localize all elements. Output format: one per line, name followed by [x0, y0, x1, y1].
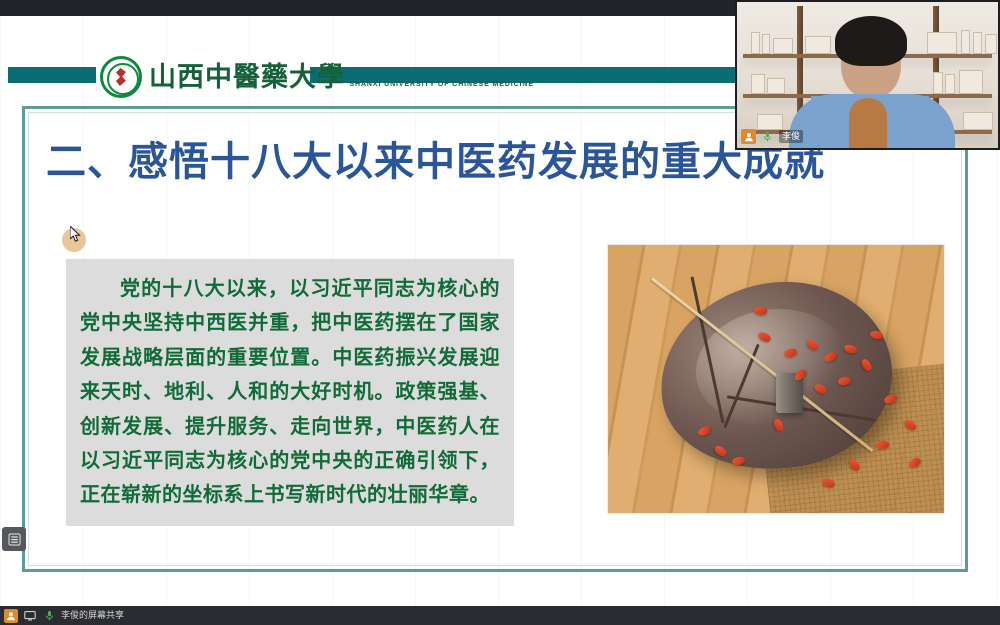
slide-body-text: 党的十八大以来，以习近平同志为核心的党中央坚持中西医并重，把中医药摆在了国家发展… — [80, 271, 500, 512]
bookshelf-book — [751, 74, 765, 94]
bookshelf-book — [945, 74, 955, 94]
screen-share-window: 录制中 山西中醫藥大學 SHANXI UNIVERSITY OF CHINESE… — [0, 0, 1000, 625]
bookshelf-book — [963, 112, 993, 130]
slide-photo — [608, 245, 944, 513]
speaker-name-label: 李俊 — [779, 130, 803, 143]
bookshelf-book — [762, 34, 770, 54]
mouse-cursor — [70, 226, 81, 242]
slide-title: 二、感悟十八大以来中医药发展的重大成就 — [46, 129, 825, 187]
speaker-video-tile[interactable]: 李俊 — [735, 0, 1000, 150]
university-seal-icon — [100, 56, 142, 98]
university-name-en: SHANXI UNIVERSITY OF CHINESE MEDICINE — [349, 81, 533, 88]
bookshelf-book — [757, 114, 783, 130]
university-logo: 山西中醫藥大學 SHANXI UNIVERSITY OF CHINESE MED… — [100, 52, 534, 102]
photo-goji-berry — [754, 307, 767, 315]
microphone-icon[interactable] — [760, 129, 775, 144]
video-tile-controls: 李俊 — [741, 129, 803, 144]
bookshelf-book — [767, 78, 785, 94]
screen-share-label: 李俊的屏幕共享 — [61, 611, 124, 620]
list-menu-icon — [8, 533, 21, 546]
bookshelf-book — [773, 38, 793, 54]
bookshelf-book — [805, 36, 831, 54]
user-avatar-icon[interactable] — [741, 129, 756, 144]
taskbar: 李俊的屏幕共享 — [0, 606, 1000, 625]
bookshelf-book — [751, 32, 760, 54]
monitor-icon[interactable] — [23, 609, 37, 623]
bookshelf-book — [985, 34, 997, 54]
bookshelf-book — [927, 32, 957, 54]
microphone-icon[interactable] — [42, 609, 56, 623]
photo-scale-pan-highlight — [688, 298, 857, 436]
university-name-cn: 山西中醫藥大學 — [149, 62, 345, 93]
header-bar-left — [8, 67, 96, 83]
bookshelf-book — [961, 30, 970, 54]
slide-body-panel: 党的十八大以来，以习近平同志为核心的党中央坚持中西医并重，把中医药摆在了国家发展… — [66, 259, 514, 526]
university-logo-text: 山西中醫藥大學 SHANXI UNIVERSITY OF CHINESE MED… — [149, 64, 534, 91]
user-avatar-icon[interactable] — [4, 609, 18, 623]
bookshelf-book — [959, 70, 983, 94]
list-menu-button[interactable] — [2, 527, 26, 551]
speaker-shirt — [849, 98, 887, 150]
speaker-hair — [835, 16, 907, 66]
bookshelf-book — [973, 32, 982, 54]
bookshelf-book — [933, 72, 943, 94]
